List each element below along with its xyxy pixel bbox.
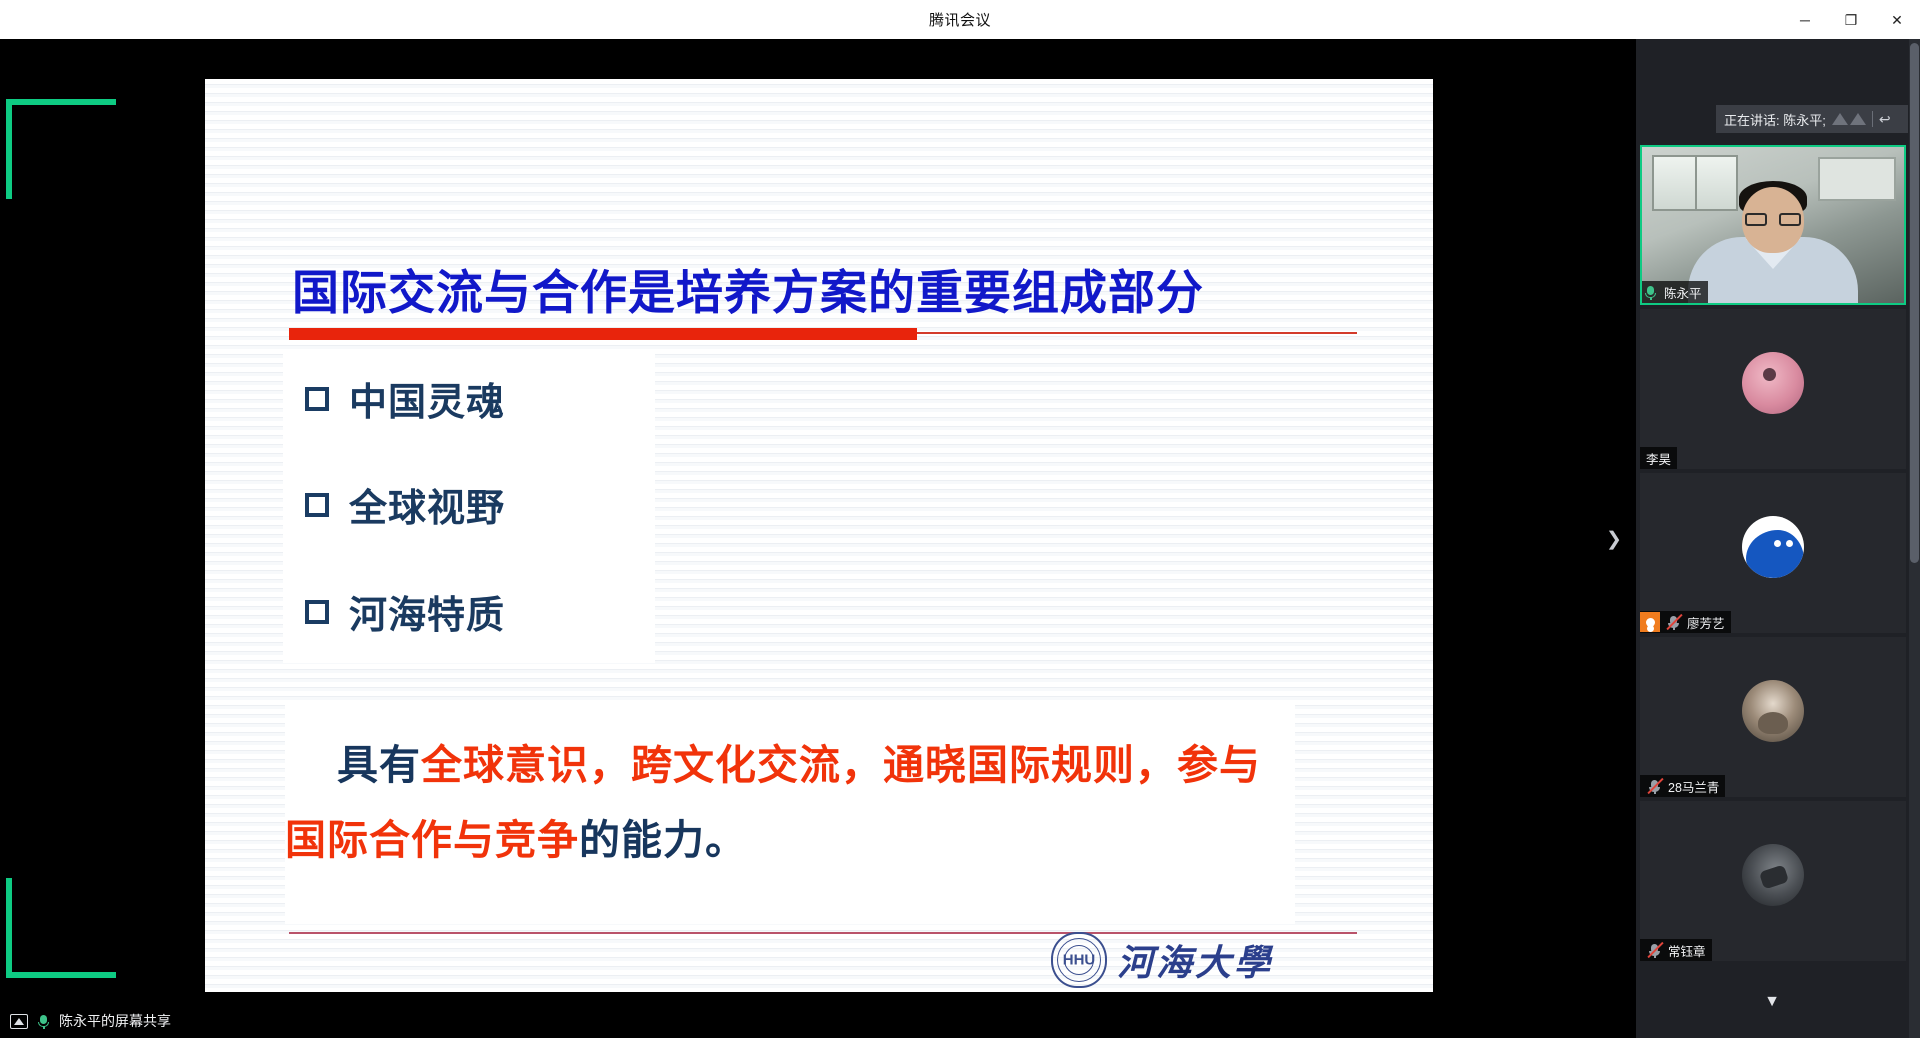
- back-arrow-icon[interactable]: ↩: [1879, 111, 1891, 128]
- window-titlebar: 腾讯会议 ─ ❐ ✕: [0, 0, 1920, 39]
- active-speaker-banner: 正在讲话: 陈永平; ↩: [1716, 105, 1908, 133]
- rail-scrollbar[interactable]: [1909, 39, 1920, 1038]
- microphone-icon: [1642, 284, 1659, 301]
- checkbox-square-icon: [305, 493, 329, 517]
- hohai-university-logo: HHU 河海大學: [1051, 924, 1261, 992]
- list-item: 河海特质: [305, 584, 505, 639]
- presentation-slide: 国际交流与合作是培养方案的重要组成部分 中国灵魂 全球视野 河海特质: [205, 79, 1433, 992]
- bullet-list: 中国灵魂 全球视野 河海特质: [283, 351, 655, 663]
- rail-scrollbar-thumb[interactable]: [1910, 43, 1919, 563]
- avatar: [1742, 680, 1804, 742]
- participant-tile[interactable]: 28马兰青: [1640, 637, 1906, 797]
- microphone-muted-icon: [1646, 778, 1663, 795]
- share-status-label: 陈永平的屏幕共享: [59, 1011, 171, 1031]
- body-lead: 具有: [337, 742, 421, 788]
- host-badge-icon: [1640, 612, 1660, 632]
- audio-level-icon: [1832, 113, 1866, 125]
- list-item: 中国灵魂: [305, 371, 505, 426]
- seal-monogram: HHU: [1063, 952, 1096, 969]
- bullet-label: 中国灵魂: [349, 371, 505, 426]
- university-seal-icon: HHU: [1051, 932, 1107, 988]
- microphone-muted-icon: [1646, 942, 1663, 959]
- window-title: 腾讯会议: [929, 9, 991, 30]
- body-tail: 的能力。: [579, 817, 747, 863]
- avatar: [1742, 516, 1804, 578]
- shared-screen-stage[interactable]: 国际交流与合作是培养方案的重要组成部分 中国灵魂 全球视野 河海特质: [0, 39, 1636, 1038]
- logo-wordmark: 河海大學: [1117, 934, 1273, 986]
- participant-namebar: 常钰章: [1640, 939, 1712, 961]
- camera-video: [1642, 147, 1904, 303]
- share-status-bar: 陈永平的屏幕共享: [0, 1004, 1636, 1038]
- minimize-button[interactable]: ─: [1782, 0, 1828, 39]
- active-speaker-label: 正在讲话: 陈永平;: [1724, 110, 1826, 129]
- bullet-label: 河海特质: [349, 584, 505, 639]
- checkbox-square-icon: [305, 387, 329, 411]
- participant-namebar: 廖芳艺: [1640, 611, 1731, 633]
- microphone-icon: [35, 1013, 52, 1030]
- avatar: [1742, 844, 1804, 906]
- checkbox-square-icon: [305, 600, 329, 624]
- participant-name: 陈永平: [1664, 283, 1702, 302]
- slide-body-panel: 具有全球意识，跨文化交流，通晓国际规则，参与国际合作与竞争的能力。: [285, 704, 1295, 924]
- participant-namebar: 陈永平: [1642, 281, 1708, 303]
- meeting-window: 国际交流与合作是培养方案的重要组成部分 中国灵魂 全球视野 河海特质: [0, 39, 1920, 1038]
- body-highlight: 全球意识，跨文化交流，通晓国际规则，参与国际合作与竞争: [285, 742, 1261, 863]
- slide-title: 国际交流与合作是培养方案的重要组成部分: [292, 254, 1204, 323]
- screen-share-icon: [10, 1014, 28, 1029]
- bullet-label: 全球视野: [349, 477, 505, 532]
- divider: [1872, 111, 1873, 127]
- participants-rail: ❯ 正在讲话: 陈永平; ↩ 陈永平: [1636, 39, 1920, 1038]
- avatar: [1742, 352, 1804, 414]
- participant-name: 李昊: [1640, 449, 1671, 468]
- participant-name: 常钰章: [1668, 941, 1706, 960]
- participant-namebar: 28马兰青: [1640, 775, 1725, 797]
- chevron-down-icon[interactable]: ▼: [1636, 985, 1908, 1019]
- participant-name: 廖芳艺: [1687, 613, 1725, 632]
- chevron-right-icon[interactable]: ❯: [1600, 509, 1628, 569]
- title-underline-thick: [289, 328, 917, 340]
- microphone-muted-icon: [1665, 614, 1682, 631]
- participant-namebar: 李昊: [1640, 447, 1677, 469]
- participant-tile[interactable]: 廖芳艺: [1640, 473, 1906, 633]
- window-controls: ─ ❐ ✕: [1782, 0, 1920, 39]
- participant-name: 28马兰青: [1668, 777, 1719, 796]
- close-button[interactable]: ✕: [1874, 0, 1920, 39]
- participant-tile[interactable]: 常钰章: [1640, 801, 1906, 961]
- list-item: 全球视野: [305, 477, 505, 532]
- participant-tile[interactable]: 李昊: [1640, 309, 1906, 469]
- slide-body-text: 具有全球意识，跨文化交流，通晓国际规则，参与国际合作与竞争的能力。: [285, 728, 1295, 877]
- maximize-button[interactable]: ❐: [1828, 0, 1874, 39]
- participant-tile[interactable]: 陈永平: [1640, 145, 1906, 305]
